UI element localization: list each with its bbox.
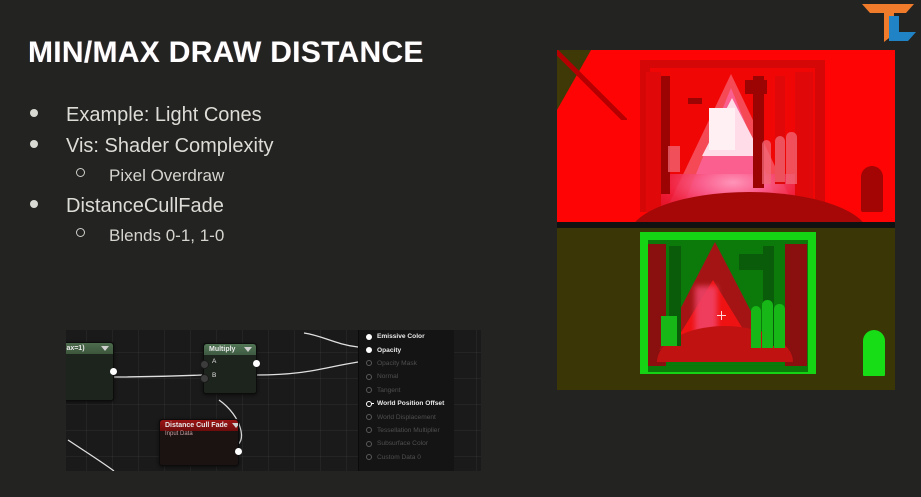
foliage-silhouette (668, 146, 680, 172)
light-cone-core (709, 108, 735, 150)
material-pin-tangent[interactable]: Tangent (359, 384, 454, 397)
material-output-node[interactable]: Emissive Color Opacity Opacity Mask Norm… (358, 330, 454, 471)
bullet-disc-icon (30, 109, 38, 117)
pixel-overdraw-green-viewport (557, 228, 895, 390)
bullet-circle-icon (76, 168, 85, 177)
node-input-label-a: A (212, 358, 216, 365)
chevron-down-icon[interactable] (101, 346, 109, 351)
node-subtitle: Input Data (160, 431, 238, 439)
bullet-circle-icon (76, 228, 85, 237)
material-pin-tessellation-multiplier[interactable]: Tessellation Multiplier (359, 424, 454, 437)
pin-half-icon[interactable] (366, 401, 372, 407)
node-output-pin[interactable] (253, 360, 260, 367)
wire-incoming-to-emissive (304, 333, 358, 347)
pin-empty-icon[interactable] (366, 374, 372, 380)
node-clamp[interactable]: ) (Max=1) (66, 342, 114, 401)
tl-monogram-logo (856, 2, 918, 42)
node-output-pin[interactable] (110, 368, 117, 375)
pin-empty-icon[interactable] (366, 454, 372, 460)
material-pin-label: Custom Data 0 (377, 454, 421, 461)
node-output-pin[interactable] (235, 448, 242, 455)
material-pin-normal[interactable]: Normal (359, 370, 454, 383)
list-item: Example: Light Cones (30, 104, 510, 127)
material-pin-label: Opacity (377, 347, 401, 354)
node-header: Multiply (204, 344, 256, 355)
hallway-pillar (785, 244, 807, 366)
viewport-crosshair-icon (717, 311, 726, 320)
bullet-text: Blends 0-1, 1-0 (109, 226, 224, 246)
material-pin-opacity[interactable]: Opacity (359, 343, 454, 356)
chevron-down-icon[interactable] (232, 423, 238, 428)
bullet-disc-icon (30, 140, 38, 148)
door-shape (863, 330, 885, 376)
material-pin-label: Normal (377, 373, 398, 380)
hallway-pillar (646, 72, 661, 212)
crowd-silhouette (786, 132, 797, 184)
bullet-text: Vis: Shader Complexity (66, 135, 274, 158)
bullet-text: Example: Light Cones (66, 104, 262, 127)
crowd-silhouette (751, 306, 761, 348)
chevron-down-icon[interactable] (244, 347, 252, 352)
node-title: Distance Cull Fade (165, 422, 228, 429)
crowd-silhouette (774, 304, 785, 348)
pin-empty-icon[interactable] (366, 441, 372, 447)
material-pin-label: Tangent (377, 387, 400, 394)
material-pin-label: World Position Offset (377, 400, 444, 407)
shader-complexity-red-viewport (557, 50, 895, 222)
node-header: ) (Max=1) (66, 343, 113, 354)
material-pin-custom-data-0[interactable]: Custom Data 0 (359, 451, 454, 464)
door-shape (861, 166, 883, 212)
pin-empty-icon[interactable] (366, 387, 372, 393)
list-item: Pixel Overdraw (76, 166, 510, 186)
node-title: Multiply (209, 346, 235, 353)
material-pin-label: Tessellation Multiplier (377, 427, 440, 434)
list-item: DistanceCullFade (30, 195, 510, 218)
node-header: Distance Cull Fade (160, 420, 238, 431)
material-pin-label: World Displacement (377, 414, 436, 421)
bullet-disc-icon (30, 200, 38, 208)
bullet-text: Pixel Overdraw (109, 166, 224, 186)
material-pin-label: Subsurface Color (377, 440, 428, 447)
node-title: ) (Max=1) (66, 345, 85, 352)
node-body: A B (204, 355, 256, 393)
crowd-silhouette (762, 300, 773, 348)
material-pin-subsurface-color[interactable]: Subsurface Color (359, 437, 454, 450)
logo-svg (856, 2, 918, 42)
pin-empty-icon[interactable] (366, 414, 372, 420)
node-distance-cull-fade[interactable]: Distance Cull Fade Input Data (159, 419, 239, 466)
material-pin-opacity-mask[interactable]: Opacity Mask (359, 357, 454, 370)
page-title: MIN/MAX DRAW DISTANCE (28, 36, 424, 70)
node-body (66, 354, 113, 400)
material-pin-label: Emissive Color (377, 333, 425, 340)
wire-clamp-to-multiply (110, 375, 202, 377)
viewport-images (557, 50, 895, 390)
node-multiply[interactable]: Multiply A B (203, 343, 257, 394)
hallway-sign (688, 98, 702, 104)
material-pin-label: Opacity Mask (377, 360, 417, 367)
node-input-pin-a[interactable] (200, 360, 209, 369)
node-body (160, 439, 238, 465)
material-pin-world-position-offset[interactable]: World Position Offset (359, 397, 454, 410)
node-input-pin-b[interactable] (200, 374, 209, 383)
hallway-sign (745, 80, 767, 94)
crowd-silhouette (762, 140, 771, 184)
pin-filled-icon[interactable] (366, 334, 372, 340)
list-item: Blends 0-1, 1-0 (76, 226, 510, 246)
material-pin-world-displacement[interactable]: World Displacement (359, 410, 454, 423)
pin-empty-icon[interactable] (366, 360, 372, 366)
hallway-pillar (795, 72, 813, 212)
bullet-text: DistanceCullFade (66, 195, 224, 218)
foliage-silhouette (661, 316, 677, 346)
pin-filled-icon[interactable] (366, 347, 372, 353)
pin-empty-icon[interactable] (366, 427, 372, 433)
list-item: Vis: Shader Complexity (30, 135, 510, 158)
hallway-sign (739, 254, 763, 270)
slide-root: MIN/MAX DRAW DISTANCE Example: Light Con… (0, 0, 921, 497)
wire-multiply-to-opacity (256, 362, 358, 375)
bullet-list: Example: Light Cones Vis: Shader Complex… (30, 104, 510, 254)
viewport-corner-edge (557, 50, 627, 120)
wire-offscreen-diagonal (68, 440, 114, 471)
node-input-label-b: B (212, 372, 216, 379)
logo-letter-l (889, 16, 916, 41)
material-pin-emissive-color[interactable]: Emissive Color (359, 330, 454, 343)
unreal-material-graph[interactable]: ) (Max=1) Multiply A B Dis (66, 330, 481, 471)
crowd-silhouette (775, 136, 785, 182)
